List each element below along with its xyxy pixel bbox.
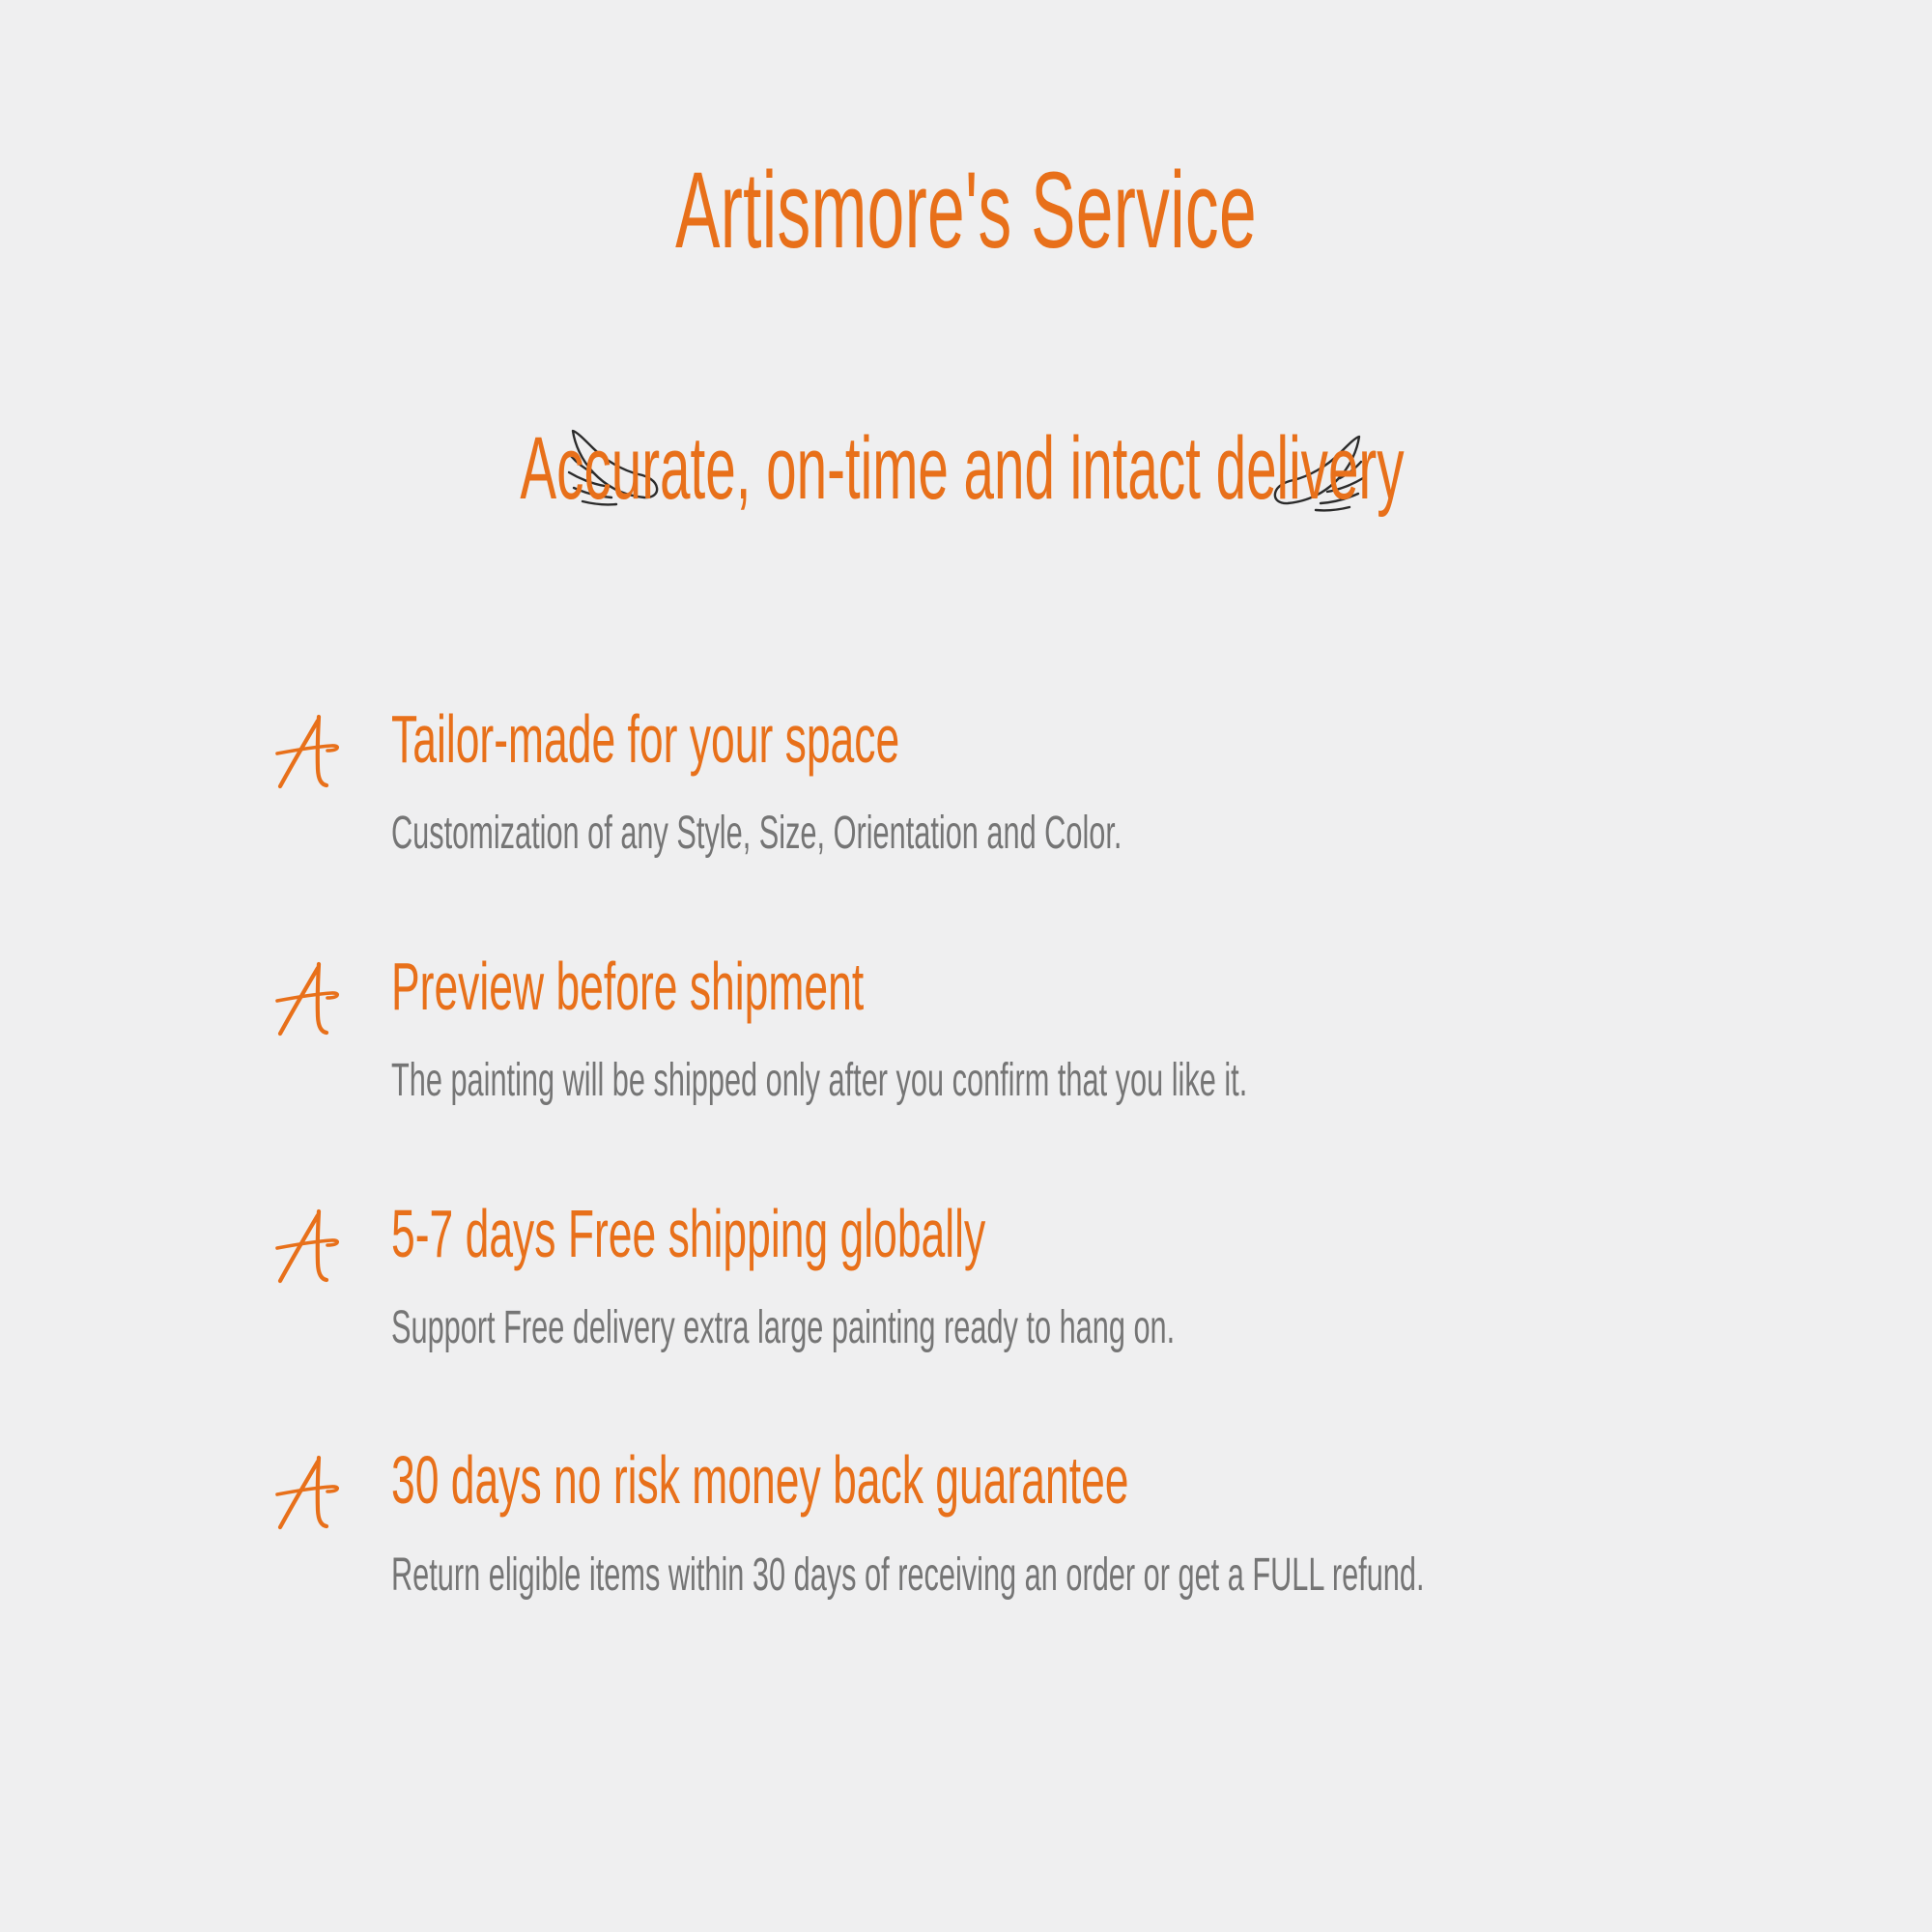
feature-description: The painting will be shipped only after …: [391, 1057, 1876, 1105]
feature-description: Support Free delivery extra large painti…: [391, 1304, 1876, 1352]
calligraphic-a-icon: [275, 954, 347, 1037]
feature-item-free-shipping: 5-7 days Free shipping globally Support …: [275, 1200, 1869, 1353]
feature-item-money-back: 30 days no risk money back guarantee Ret…: [275, 1446, 1869, 1600]
feature-description: Return eligible items within 30 days of …: [391, 1551, 1876, 1600]
feature-list: Tailor-made for your space Customization…: [275, 705, 1869, 1600]
page-title: Artismore's Service: [367, 153, 1565, 270]
calligraphic-a-icon: [275, 1202, 347, 1285]
feature-heading: 5-7 days Free shipping globally: [391, 1200, 1874, 1268]
feature-heading: Tailor-made for your space: [391, 705, 1874, 774]
feature-description: Customization of any Style, Size, Orient…: [391, 810, 1876, 858]
subtitle-row: Accurate, on-time and intact delivery: [0, 406, 1932, 531]
service-promo-page: Artismore's Service Accurate, on-time an…: [0, 0, 1932, 1932]
feature-body: Preview before shipment The painting wil…: [391, 952, 1869, 1106]
feature-heading: 30 days no risk money back guarantee: [391, 1446, 1874, 1515]
feature-body: 30 days no risk money back guarantee Ret…: [391, 1446, 1869, 1600]
feature-item-preview: Preview before shipment The painting wil…: [275, 952, 1869, 1106]
calligraphic-a-icon: [275, 1448, 347, 1531]
feature-body: 5-7 days Free shipping globally Support …: [391, 1200, 1869, 1353]
subtitle-text: Accurate, on-time and intact delivery: [338, 424, 1586, 513]
feature-body: Tailor-made for your space Customization…: [391, 705, 1869, 859]
feature-item-tailor-made: Tailor-made for your space Customization…: [275, 705, 1869, 859]
calligraphic-a-icon: [275, 707, 347, 790]
feature-heading: Preview before shipment: [391, 952, 1874, 1021]
